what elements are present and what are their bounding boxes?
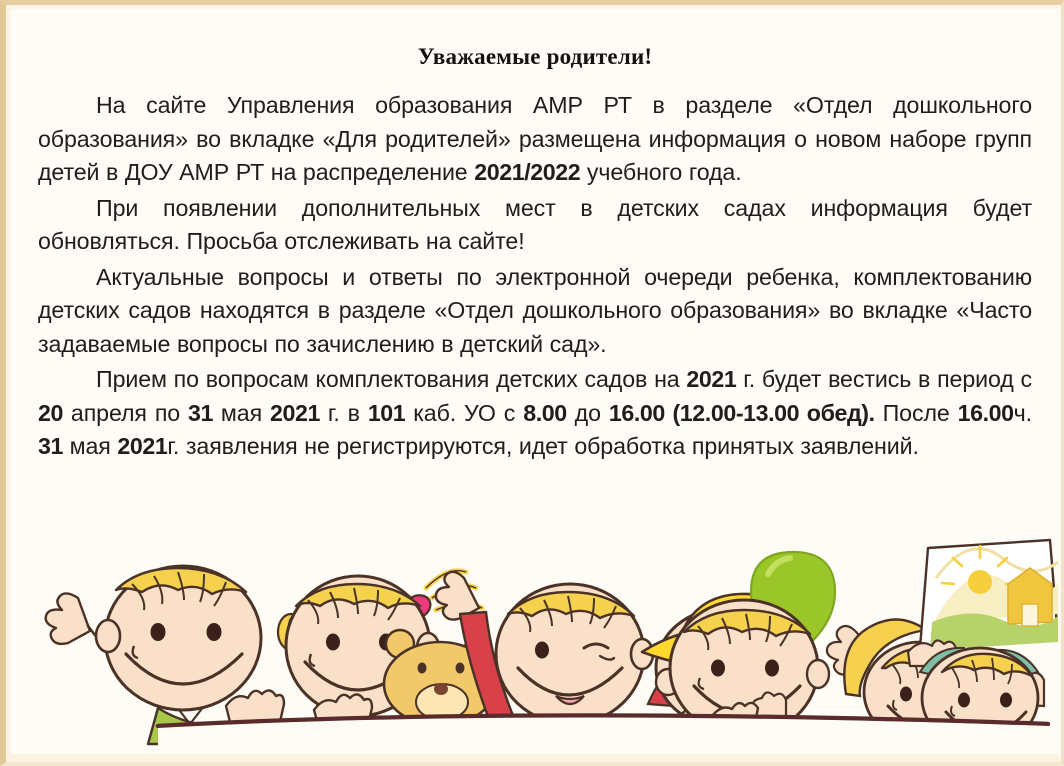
children-illustration (8, 526, 1058, 756)
paragraph-4: Прием по вопросам комплектования детских… (38, 363, 1032, 464)
emphasised-text: 31 (38, 433, 63, 459)
poster-content: Уважаемые родители! На сайте Управления … (38, 44, 1032, 464)
paragraph-2: При появлении дополнительных мест в детс… (38, 192, 1032, 259)
emphasised-text: 2021 (117, 433, 167, 459)
page-title: Уважаемые родители! (38, 44, 1032, 69)
paragraph-3: Актуальные вопросы и ответы по электронн… (38, 261, 1032, 362)
emphasised-text: 2021 (270, 400, 320, 426)
banner-front (158, 717, 1048, 756)
announcement-poster: Уважаемые родители! На сайте Управления … (0, 0, 1064, 766)
winking-child-tongue-out (496, 584, 653, 724)
emphasised-text: 20 (38, 400, 63, 426)
emphasised-text: 8.00 (523, 400, 567, 426)
paragraph-1: На сайте Управления образования АМР РТ в… (38, 89, 1032, 190)
child-holding-landscape-drawing (908, 540, 1058, 748)
boy-holding-green-balloon (670, 552, 835, 736)
emphasised-text: 16.00 (958, 400, 1014, 426)
emphasised-text: 2021/2022 (474, 159, 580, 185)
emphasised-text: 16.00 (12.00-13.00 обед). (609, 400, 875, 426)
emphasised-text: 2021 (686, 366, 736, 392)
waving-boy-green-shirt (46, 566, 284, 744)
emphasised-text: 101 (368, 400, 406, 426)
emphasised-text: 31 (188, 400, 213, 426)
